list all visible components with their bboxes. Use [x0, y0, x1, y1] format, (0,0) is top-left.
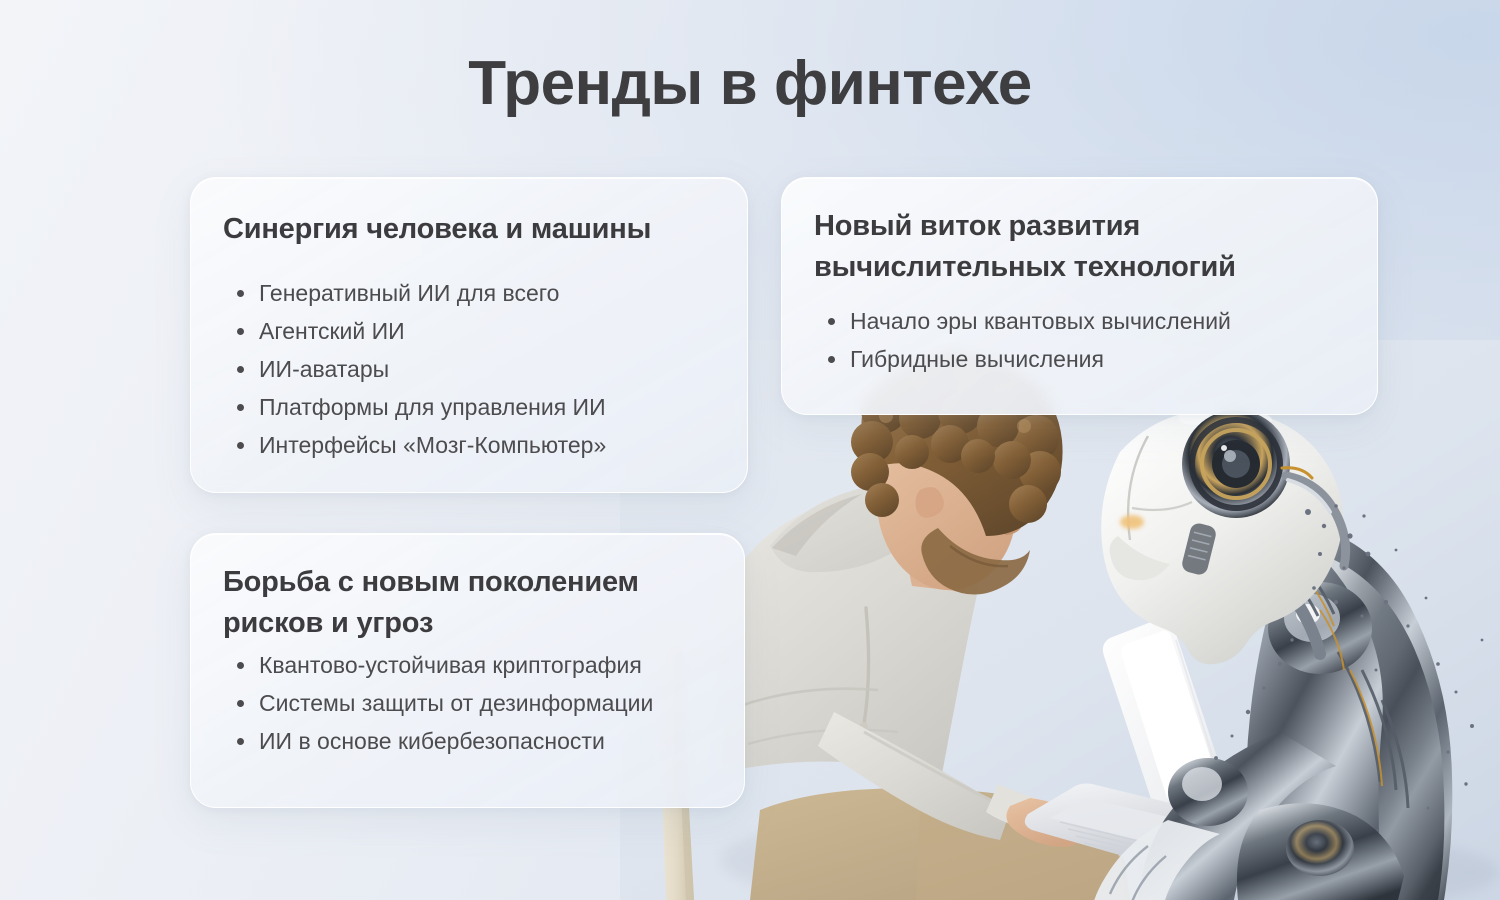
- list-item-label: Генеративный ИИ для всего: [259, 280, 559, 306]
- list-item-label: ИИ-аватары: [259, 356, 389, 382]
- list-item-label: Гибридные вычисления: [850, 346, 1104, 372]
- list-item-label: ИИ в основе кибербезопасности: [259, 728, 605, 754]
- list-item: Гибридные вычисления: [828, 340, 1359, 378]
- bullet-icon: [237, 662, 244, 669]
- list-item: Платформы для управления ИИ: [237, 388, 729, 426]
- card-risks-list: Квантово-устойчивая криптография Системы…: [237, 646, 726, 760]
- list-item-label: Интерфейсы «Мозг-Компьютер»: [259, 432, 606, 458]
- bullet-icon: [237, 290, 244, 297]
- list-item-label: Начало эры квантовых вычислений: [850, 308, 1231, 334]
- bullet-icon: [828, 356, 835, 363]
- list-item: ИИ в основе кибербезопасности: [237, 722, 726, 760]
- list-item: Системы защиты от дезинформации: [237, 684, 726, 722]
- bullet-icon: [237, 328, 244, 335]
- card-risks: Борьба с новым поколением рисков и угроз…: [190, 533, 745, 808]
- hero-photo: [620, 340, 1500, 900]
- list-item-label: Системы защиты от дезинформации: [259, 690, 653, 716]
- list-item-label: Агентский ИИ: [259, 318, 405, 344]
- card-risks-heading: Борьба с новым поколением рисков и угроз: [223, 562, 720, 644]
- robot-knee-joint: [1286, 820, 1354, 876]
- slide-root: Тренды в финтехе: [0, 0, 1500, 900]
- card-computing-heading: Новый виток развития вычислительных техн…: [814, 206, 1353, 288]
- list-item: Интерфейсы «Мозг-Компьютер»: [237, 426, 729, 464]
- page-title: Тренды в финтехе: [0, 48, 1500, 120]
- bullet-icon: [828, 318, 835, 325]
- bullet-icon: [237, 404, 244, 411]
- bullet-icon: [237, 700, 244, 707]
- bullet-icon: [237, 442, 244, 449]
- card-synergy-heading: Синергия человека и машины: [223, 209, 723, 250]
- card-computing-list: Начало эры квантовых вычислений Гибридны…: [828, 302, 1359, 378]
- list-item-label: Квантово-устойчивая криптография: [259, 652, 642, 678]
- list-item: Квантово-устойчивая криптография: [237, 646, 726, 684]
- robot-eye-lens: [1182, 410, 1290, 518]
- list-item: ИИ-аватары: [237, 350, 729, 388]
- card-computing: Новый виток развития вычислительных техн…: [781, 177, 1378, 415]
- robot-glow: [1120, 515, 1144, 529]
- card-synergy-list: Генеративный ИИ для всего Агентский ИИ И…: [237, 274, 729, 464]
- bullet-icon: [237, 738, 244, 745]
- list-item: Генеративный ИИ для всего: [237, 274, 729, 312]
- hero-photo-illustration: [620, 340, 1500, 900]
- list-item-label: Платформы для управления ИИ: [259, 394, 606, 420]
- card-synergy: Синергия человека и машины Генеративный …: [190, 177, 748, 493]
- bullet-icon: [237, 366, 244, 373]
- list-item: Начало эры квантовых вычислений: [828, 302, 1359, 340]
- list-item: Агентский ИИ: [237, 312, 729, 350]
